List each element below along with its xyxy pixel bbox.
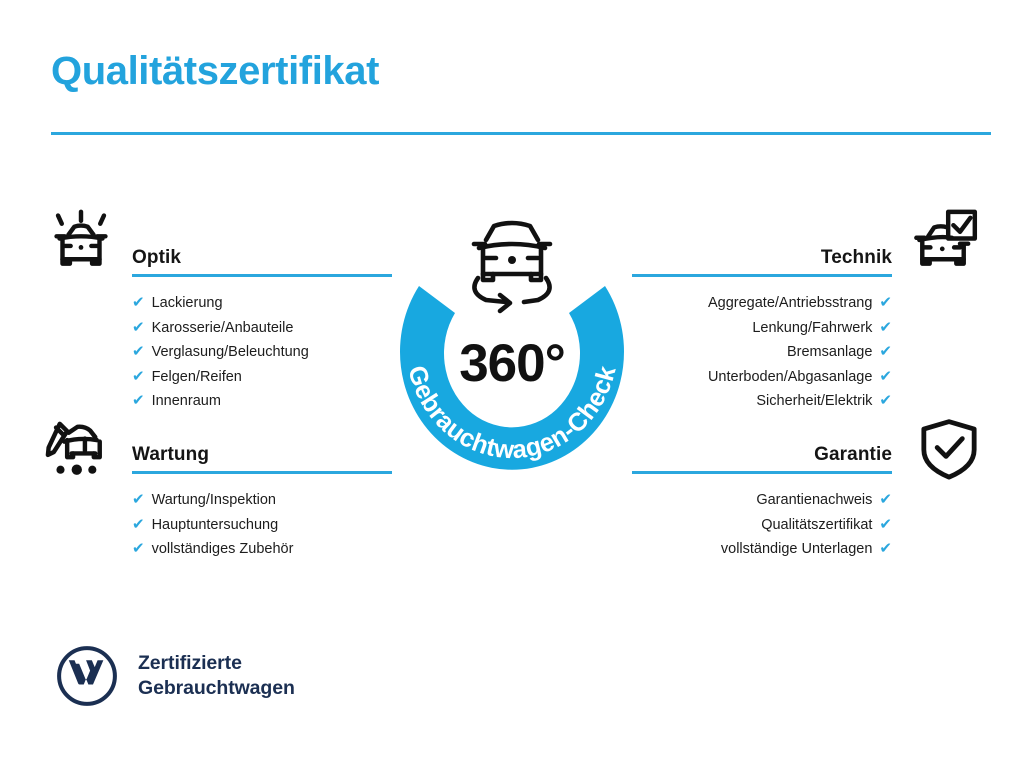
certificate-page: Qualitätszertifikat (0, 0, 1024, 768)
list-item: ✔ Lackierung (32, 291, 392, 316)
footer-logo-line2: Gebrauchtwagen (138, 676, 295, 701)
volkswagen-logo-icon (56, 645, 118, 707)
check-icon: ✔ (132, 393, 145, 408)
list-item: vollständige Unterlagen ✔ (632, 537, 992, 562)
block-wartung-head: Wartung (32, 428, 392, 474)
list-item: ✔ Felgen/Reifen (32, 365, 392, 390)
header-divider (51, 132, 991, 135)
block-optik-head: Optik (32, 231, 392, 277)
block-technik-head: Technik (632, 231, 992, 277)
check-icon: ✔ (132, 369, 145, 384)
page-title: Qualitätszertifikat (51, 50, 991, 92)
block-optik-title: Optik (132, 247, 181, 269)
list-item: ✔ Innenraum (32, 389, 392, 414)
check-icon: ✔ (132, 295, 145, 310)
check-icon: ✔ (879, 295, 892, 310)
block-garantie-list: Garantienachweis ✔ Qualitätszertifikat ✔… (632, 488, 992, 562)
check-icon: ✔ (879, 320, 892, 335)
list-item-label: Felgen/Reifen (152, 365, 242, 390)
list-item-label: Innenraum (152, 389, 221, 414)
footer-logo-line1: Zertifizierte (138, 651, 295, 676)
list-item: ✔ Hauptuntersuchung (32, 513, 392, 538)
badge-360-check: Gebrauchtwagen-Check 360° (373, 190, 651, 490)
block-wartung-divider (132, 471, 392, 474)
list-item-label: Lackierung (152, 291, 223, 316)
footer-logo: Zertifizierte Gebrauchtwagen (56, 645, 295, 707)
block-wartung-title: Wartung (132, 444, 209, 466)
check-icon: ✔ (879, 492, 892, 507)
check-icon: ✔ (879, 541, 892, 556)
list-item-label: vollständiges Zubehör (152, 537, 294, 562)
list-item-label: Karosserie/Anbauteile (152, 316, 294, 341)
list-item-label: Bremsanlage (787, 340, 872, 365)
block-optik-list: ✔ Lackierung ✔ Karosserie/Anbauteile ✔ V… (32, 291, 392, 414)
check-icon: ✔ (879, 393, 892, 408)
list-item-label: Hauptuntersuchung (152, 513, 279, 538)
list-item-label: Lenkung/Fahrwerk (752, 316, 872, 341)
badge-value: 360° (373, 333, 651, 394)
list-item: ✔ vollständiges Zubehör (32, 537, 392, 562)
check-icon: ✔ (132, 344, 145, 359)
list-item-label: Aggregate/Antriebsstrang (708, 291, 872, 316)
list-item: Sicherheit/Elektrik ✔ (632, 389, 992, 414)
header: Qualitätszertifikat (51, 50, 991, 92)
block-optik-divider (132, 274, 392, 277)
list-item-label: Verglasung/Beleuchtung (152, 340, 309, 365)
block-garantie-divider (632, 471, 892, 474)
list-item: Unterboden/Abgasanlage ✔ (632, 365, 992, 390)
list-item-label: Garantienachweis (756, 488, 872, 513)
block-garantie-title: Garantie (814, 444, 892, 466)
list-item-label: vollständige Unterlagen (721, 537, 873, 562)
list-item: Garantienachweis ✔ (632, 488, 992, 513)
check-icon: ✔ (132, 517, 145, 532)
list-item: Aggregate/Antriebsstrang ✔ (632, 291, 992, 316)
block-optik: Optik ✔ Lackierung ✔ Karosserie/Anbautei… (32, 231, 392, 430)
block-wartung-list: ✔ Wartung/Inspektion ✔ Hauptuntersuchung… (32, 488, 392, 562)
list-item: Lenkung/Fahrwerk ✔ (632, 316, 992, 341)
footer-logo-text: Zertifizierte Gebrauchtwagen (138, 651, 295, 701)
block-technik: Technik Aggregate/Antriebsstrang ✔ Lenku… (632, 231, 992, 430)
block-technik-divider (632, 274, 892, 277)
block-technik-list: Aggregate/Antriebsstrang ✔ Lenkung/Fahrw… (632, 291, 992, 414)
list-item-label: Sicherheit/Elektrik (756, 389, 872, 414)
list-item-label: Wartung/Inspektion (152, 488, 276, 513)
check-icon: ✔ (879, 517, 892, 532)
list-item: ✔ Wartung/Inspektion (32, 488, 392, 513)
check-icon: ✔ (132, 541, 145, 556)
check-icon: ✔ (132, 492, 145, 507)
list-item: ✔ Karosserie/Anbauteile (32, 316, 392, 341)
list-item: ✔ Verglasung/Beleuchtung (32, 340, 392, 365)
check-icon: ✔ (879, 369, 892, 384)
check-icon: ✔ (132, 320, 145, 335)
block-wartung: Wartung ✔ Wartung/Inspektion ✔ Hauptunte… (32, 428, 392, 578)
list-item: Qualitätszertifikat ✔ (632, 513, 992, 538)
list-item-label: Qualitätszertifikat (761, 513, 872, 538)
check-icon: ✔ (879, 344, 892, 359)
block-garantie-head: Garantie (632, 428, 992, 474)
block-garantie: Garantie Garantienachweis ✔ Qualitätszer… (632, 428, 992, 578)
list-item: Bremsanlage ✔ (632, 340, 992, 365)
list-item-label: Unterboden/Abgasanlage (708, 365, 872, 390)
block-technik-title: Technik (821, 247, 892, 269)
